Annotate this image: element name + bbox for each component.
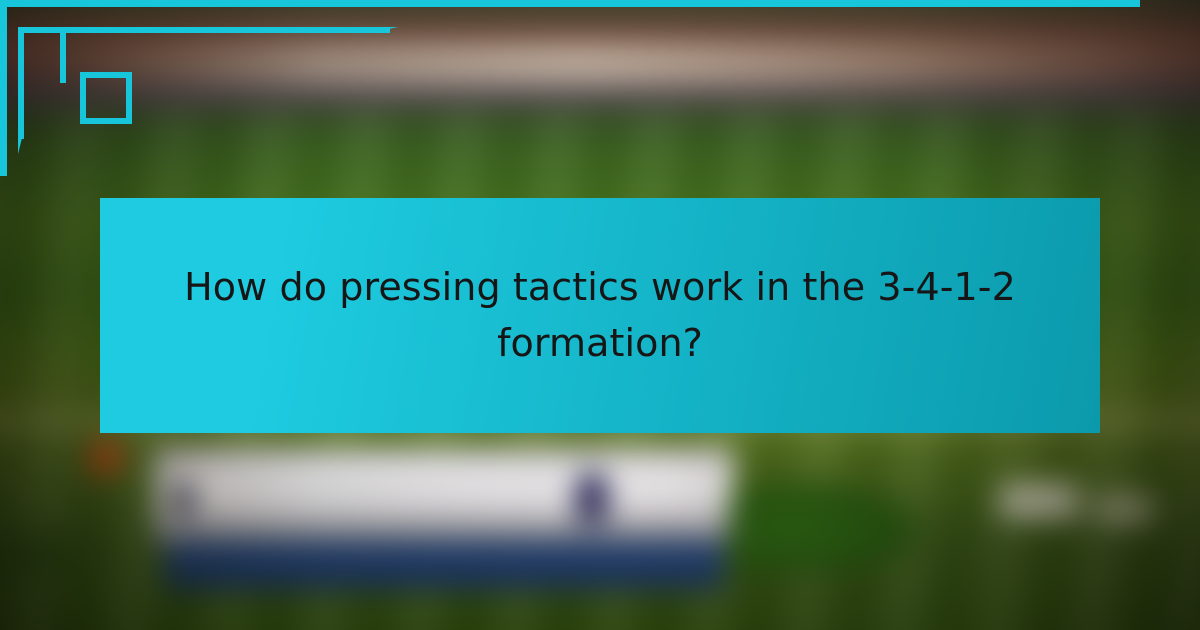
frame-square-accent	[80, 72, 132, 124]
headline-banner: How do pressing tactics work in the 3-4-…	[100, 198, 1100, 433]
frame-edge-top	[0, 0, 1140, 7]
social-card-canvas: How do pressing tactics work in the 3-4-…	[0, 0, 1200, 630]
page-title: How do pressing tactics work in the 3-4-…	[170, 260, 1030, 370]
frame-short-horizontal	[18, 27, 132, 33]
frame-edge-left	[0, 0, 7, 176]
frame-outer-vertical	[18, 27, 24, 139]
frame-inner-vertical	[60, 27, 66, 83]
